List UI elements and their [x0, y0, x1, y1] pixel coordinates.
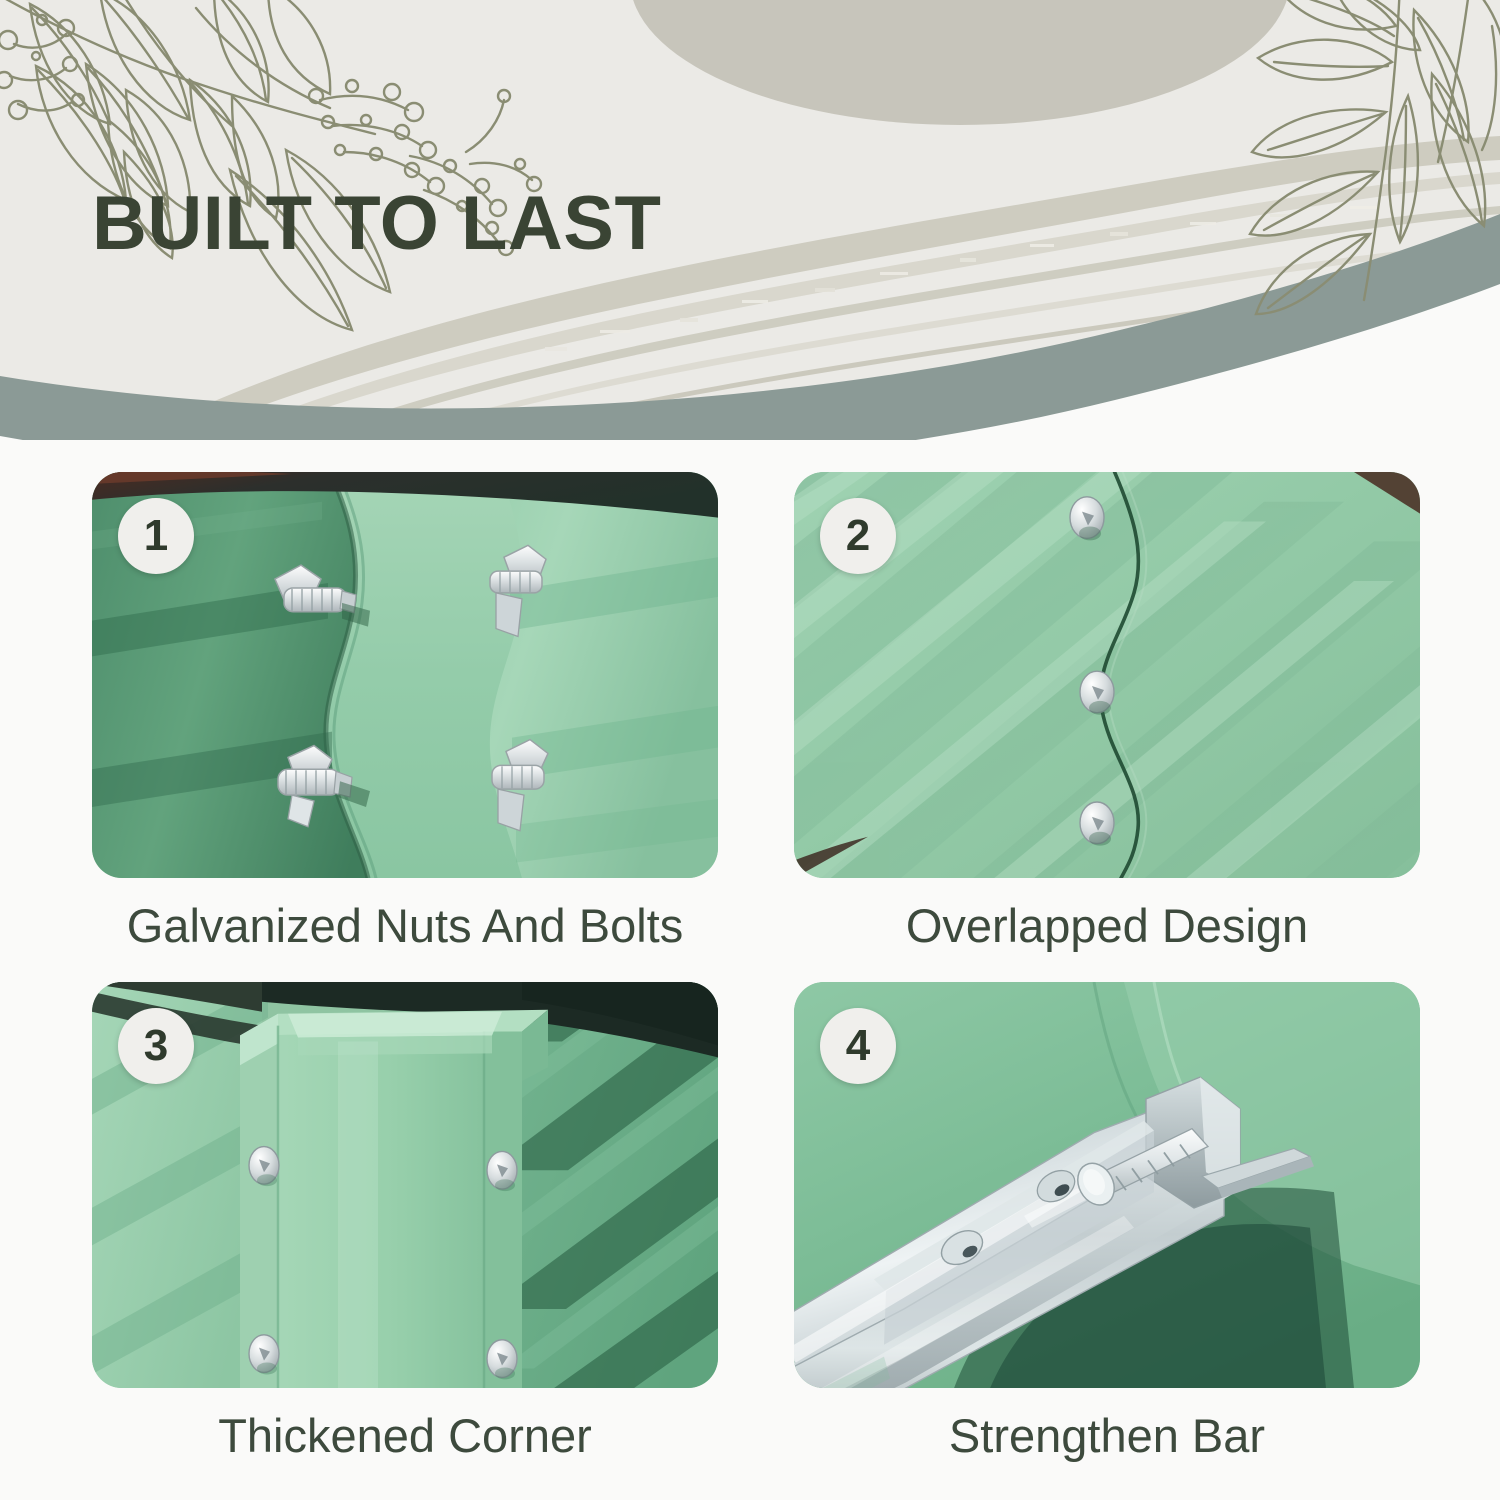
feature-badge-3: 3	[118, 1008, 194, 1084]
feature-card-1: 1 Galvanized Nuts And Bolts	[92, 472, 718, 952]
feature-photo-4[interactable]: 4	[794, 982, 1420, 1388]
feature-caption-4: Strengthen Bar	[794, 1410, 1420, 1462]
feature-card-4: 4 Strengthen Bar	[794, 982, 1420, 1462]
feature-photo-2[interactable]: 2	[794, 472, 1420, 878]
feature-badge-4: 4	[820, 1008, 896, 1084]
feature-caption-1: Galvanized Nuts And Bolts	[92, 900, 718, 952]
feature-card-2: 2 Overlapped Design	[794, 472, 1420, 952]
corner-post	[240, 1010, 548, 1389]
feature-photo-3[interactable]: 3	[92, 982, 718, 1388]
feature-caption-2: Overlapped Design	[794, 900, 1420, 952]
page-title: BUILT TO LAST	[92, 186, 661, 262]
feature-badge-2: 2	[820, 498, 896, 574]
feature-grid: 1 Galvanized Nuts And Bolts	[92, 472, 1420, 1462]
feature-card-3: 3 Thickened Corner	[92, 982, 718, 1462]
feature-photo-1[interactable]: 1	[92, 472, 718, 878]
infographic-page: BUILT TO LAST	[0, 0, 1500, 1500]
feature-caption-3: Thickened Corner	[92, 1410, 718, 1462]
header-banner: BUILT TO LAST	[0, 0, 1500, 440]
feature-badge-1: 1	[118, 498, 194, 574]
